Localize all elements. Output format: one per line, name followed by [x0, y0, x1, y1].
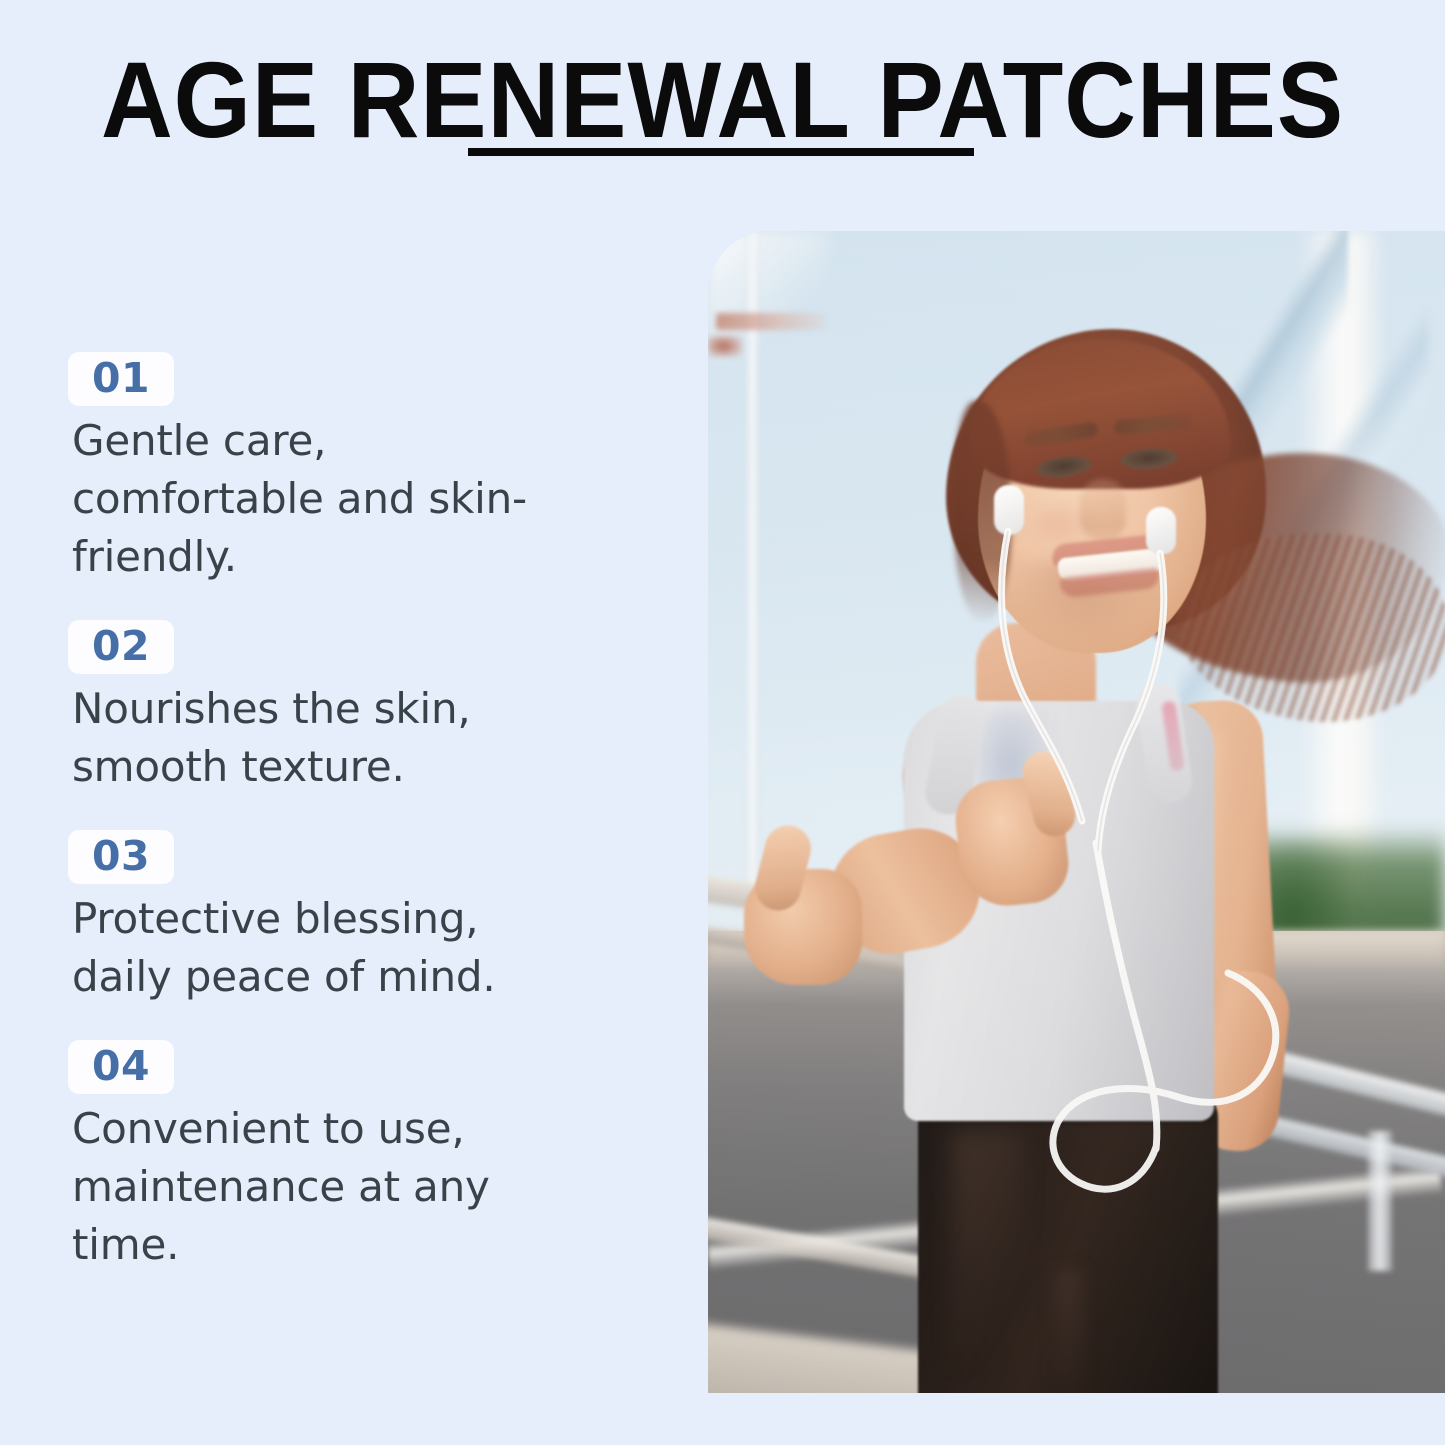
badge-number: 02	[92, 622, 150, 670]
feature-description: Gentle care, comfortable and skin-friend…	[72, 412, 527, 586]
list-item: 04 Convenient to use, maintenance at any…	[68, 1040, 628, 1274]
title-underline-divider	[468, 148, 974, 156]
page-title: AGE RENEWAL PATCHES	[0, 42, 1445, 159]
list-item: 01 Gentle care, comfortable and skin-fri…	[68, 352, 628, 586]
feature-list: 01 Gentle care, comfortable and skin-fri…	[68, 352, 628, 1308]
list-item: 02 Nourishes the skin, smooth texture.	[68, 620, 628, 796]
title-text: AGE RENEWAL PATCHES	[58, 42, 1387, 159]
infographic-poster: AGE RENEWAL PATCHES 01 Gentle care, comf…	[0, 0, 1445, 1445]
badge-number: 04	[92, 1042, 150, 1090]
list-item: 03 Protective blessing, daily peace of m…	[68, 830, 628, 1006]
status-badge: 03	[68, 830, 174, 884]
feature-description: Nourishes the skin, smooth texture.	[72, 680, 527, 796]
status-badge: 01	[68, 352, 174, 406]
feature-description: Convenient to use, maintenance at any ti…	[72, 1100, 527, 1274]
badge-number: 01	[92, 354, 150, 402]
badge-number: 03	[92, 832, 150, 880]
photo-earbud-cord	[708, 231, 1445, 1393]
hero-photo	[708, 231, 1445, 1393]
feature-description: Protective blessing, daily peace of mind…	[72, 890, 527, 1006]
status-badge: 02	[68, 620, 174, 674]
status-badge: 04	[68, 1040, 174, 1094]
